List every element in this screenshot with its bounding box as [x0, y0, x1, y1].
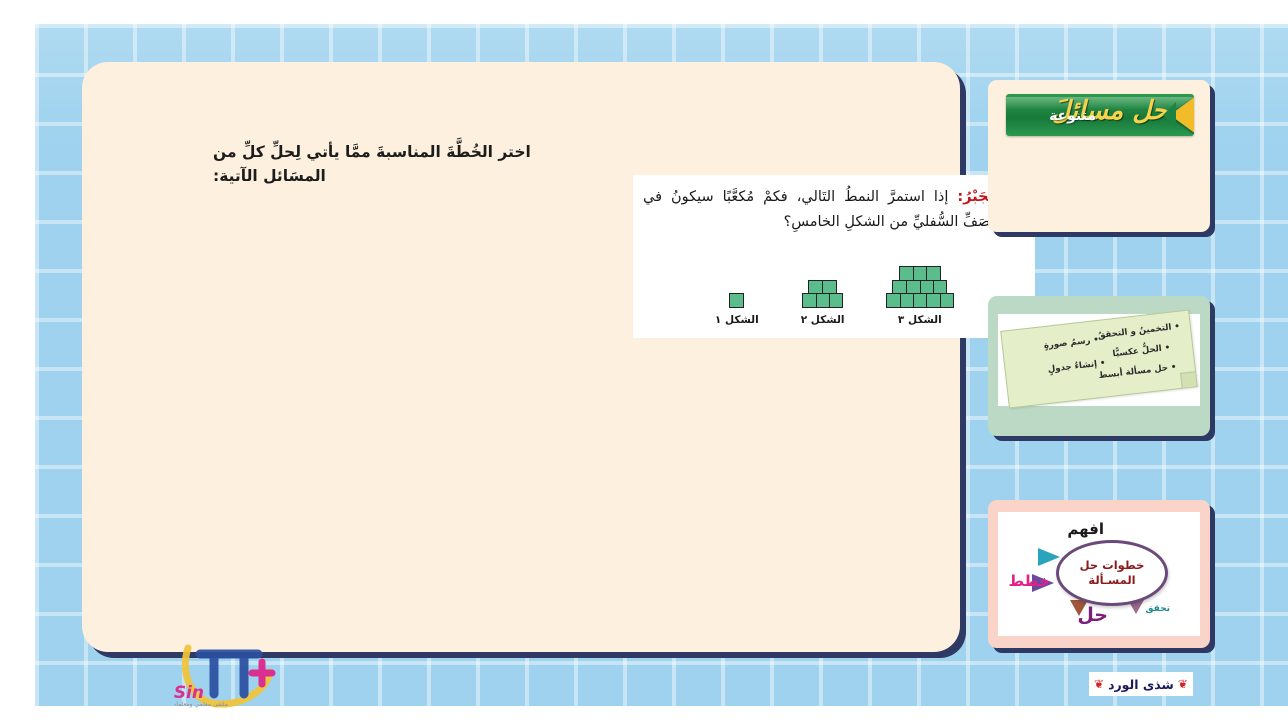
main-content-panel: اختر الخُطَّةَ المناسبةَ ممَّا يأتي لِحل…	[82, 62, 960, 652]
signature-name: شذى الورد	[1108, 677, 1174, 692]
strategy-item: • التخمينُ و التحققُ	[1097, 322, 1180, 341]
figure-item: الشكل ٣	[887, 257, 954, 326]
pattern-figures: الشكل ١ الشكل ٢ الشكل ٣	[633, 257, 1035, 326]
steps-center-text: خطوات حل المسـألة	[1080, 558, 1145, 588]
instruction-heading: اختر الخُطَّةَ المناسبةَ ممَّا يأتي لِحل…	[213, 140, 625, 188]
figure-3-stack	[887, 257, 954, 307]
step-plan: خطط	[1009, 572, 1050, 590]
card-face: خطوات حل المسـألة افهم خطط حل تحقق	[988, 500, 1210, 648]
strategy-item: • رسمُ صورةٍ	[1043, 335, 1099, 351]
steps-diagram: خطوات حل المسـألة افهم خطط حل تحقق	[998, 512, 1200, 636]
strategy-item: • إنشاءُ جدولٍ	[1047, 358, 1106, 374]
note-backing: • التخمينُ و التحققُ • الحلُّ عكسيًّا • …	[998, 314, 1200, 406]
step-check: تحقق	[1146, 604, 1170, 614]
heading-line-2: المسَائل الآتية:	[213, 164, 625, 188]
cube	[815, 293, 830, 308]
step-solve: حل	[1077, 604, 1108, 626]
sticky-note: • التخمينُ و التحققُ • الحلُّ عكسيًّا • …	[1000, 309, 1198, 408]
rose-icon: ❦	[1094, 678, 1104, 690]
problem-body: إذا استمرَّ النمطُ التَالي، فكمْ مُكعَّب…	[643, 189, 999, 230]
card-face: • التخمينُ و التحققُ • الحلُّ عكسيًّا • …	[988, 296, 1210, 436]
cube-row	[900, 267, 940, 280]
cube-row	[809, 280, 836, 293]
card-face: حل مسائلَ متنوعة	[988, 80, 1210, 232]
publisher-logo: Sin ملتقى معلمي ومعلمات الرياضيات	[174, 632, 286, 712]
strategy-item: • الحلُّ عكسيًّا	[1112, 343, 1171, 359]
screen-root: اختر الخُطَّةَ المناسبةَ ممَّا يأتي لِحل…	[0, 0, 1288, 728]
cube	[912, 293, 927, 308]
steps-center-line-2: المسـألة	[1088, 573, 1135, 587]
figure-2-stack	[803, 257, 843, 307]
cube-row	[887, 294, 954, 307]
cube-row	[893, 280, 946, 293]
cube	[828, 293, 843, 308]
svg-text:ملتقى معلمي ومعلمات الرياضيات: ملتقى معلمي ومعلمات الرياضيات	[174, 701, 228, 708]
lesson-title-banner: حل مسائلَ متنوعة	[1006, 94, 1194, 136]
cube-row	[730, 294, 743, 307]
figure-1-stack	[730, 257, 743, 307]
figure-label: الشكل ٣	[898, 314, 942, 326]
step-understand: افهم	[1067, 520, 1104, 538]
spike-teal-icon	[1038, 548, 1060, 566]
page-fold-corner	[1180, 371, 1197, 388]
cube	[802, 293, 817, 308]
figure-label: الشكل ١	[715, 314, 759, 326]
cube	[899, 293, 914, 308]
cube	[926, 293, 941, 308]
steps-center-oval: خطوات حل المسـألة	[1056, 540, 1168, 606]
author-signature: ❦ شذى الورد ❦	[1089, 672, 1193, 696]
figure-item: الشكل ٢	[801, 257, 845, 326]
steps-center-line-1: خطوات حل	[1080, 558, 1145, 572]
figure-label: الشكل ٢	[801, 314, 845, 326]
strategy-item: • حل مسألة أبسط	[1098, 362, 1177, 381]
heading-line-1: اختر الخُطَّةَ المناسبةَ ممَّا يأتي لِحل…	[213, 143, 531, 161]
cube	[939, 293, 954, 308]
chevron-notch-icon	[1163, 102, 1176, 128]
problem-statement-row: ٦ الجَبْرُ: إذا استمرَّ النمطُ التَالي، …	[643, 185, 1025, 235]
cube	[729, 293, 744, 308]
rose-icon: ❦	[1178, 678, 1188, 690]
strategies-card: • التخمينُ و التحققُ • الحلُّ عكسيًّا • …	[988, 296, 1210, 436]
cube	[886, 293, 901, 308]
title-card: حل مسائلَ متنوعة	[988, 80, 1210, 232]
problem-text: الجَبْرُ: إذا استمرَّ النمطُ التَالي، فك…	[643, 185, 999, 235]
svg-text:Sin: Sin	[174, 683, 204, 703]
cube-row	[803, 294, 843, 307]
problem-solving-steps-card: خطوات حل المسـألة افهم خطط حل تحقق	[988, 500, 1210, 648]
figure-item: الشكل ١	[715, 257, 759, 326]
question-card: ٦ الجَبْرُ: إذا استمرَّ النمطُ التَالي، …	[633, 175, 1035, 338]
lesson-title-sub: متنوعة	[1049, 108, 1096, 124]
